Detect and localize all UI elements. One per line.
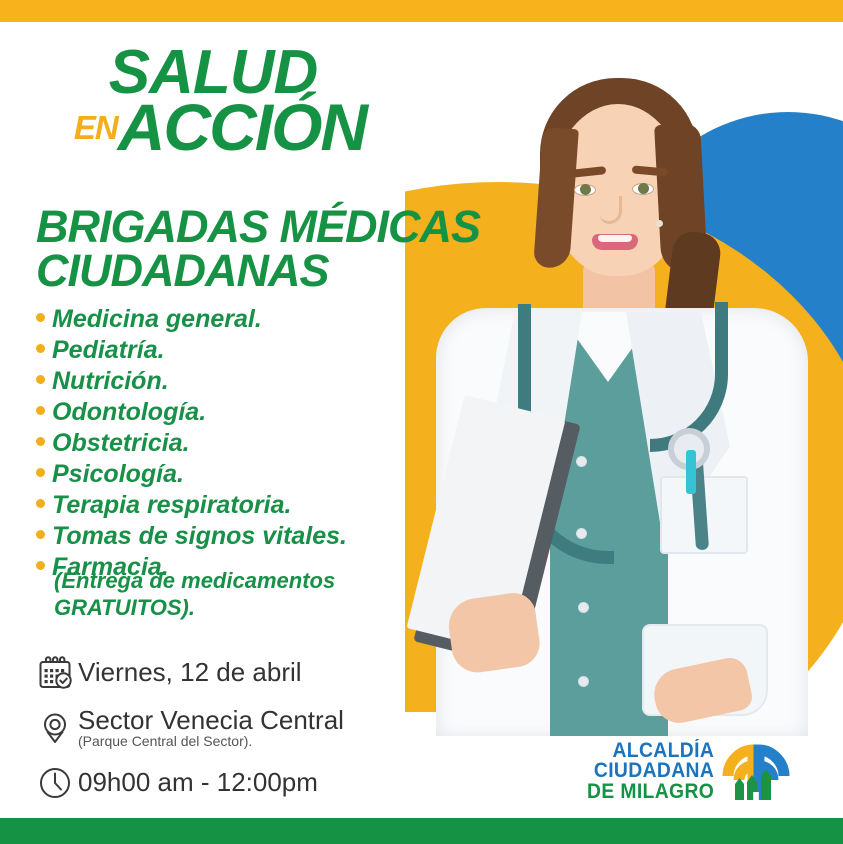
services-list: Medicina general. Pediatría. Nutrición. … [36, 306, 436, 585]
pharmacy-note: (Entrega de medicamentos GRATUITOS). [54, 568, 414, 622]
service-label: Nutrición. [52, 368, 169, 396]
bullet-dot-icon [36, 313, 45, 322]
hand-left [445, 590, 542, 676]
list-item: Odontología. [36, 399, 436, 427]
list-item: Terapia respiratoria. [36, 492, 436, 520]
event-date-row: Viernes, 12 de abril [32, 650, 432, 696]
note-prefix: (Entrega de medicamentos [54, 568, 335, 593]
bullet-dot-icon [36, 375, 45, 384]
event-location-detail: (Parque Central del Sector). [78, 734, 344, 750]
bullet-dot-icon [36, 468, 45, 477]
bullet-dot-icon [36, 499, 45, 508]
service-label: Psicología. [52, 461, 184, 489]
iris-left [580, 184, 591, 195]
service-label: Medicina general. [52, 306, 262, 334]
doctor-photo [400, 36, 843, 736]
coat-button [578, 676, 589, 687]
list-item: Medicina general. [36, 306, 436, 334]
bullet-dot-icon [36, 437, 45, 446]
location-pin-icon [32, 705, 78, 751]
event-details: Viernes, 12 de abril Sector Venecia Cent… [32, 650, 432, 815]
event-time: 09h00 am - 12:00pm [78, 768, 318, 797]
calendar-check-icon [32, 650, 78, 696]
service-label: Obstetricia. [52, 430, 190, 458]
event-time-row: 09h00 am - 12:00pm [32, 760, 432, 806]
list-item: Tomas de signos vitales. [36, 523, 436, 551]
headline-accion: ACCIÓN [118, 98, 366, 157]
service-label: Pediatría. [52, 337, 165, 365]
note-suffix: ). [182, 595, 195, 620]
service-label: Odontología. [52, 399, 206, 427]
teeth [598, 235, 632, 242]
list-item: Obstetricia. [36, 430, 436, 458]
iris-right [638, 183, 649, 194]
event-location-name: Sector Venecia Central [78, 705, 344, 735]
bullet-dot-icon [36, 406, 45, 415]
earring [656, 220, 663, 227]
poster-canvas: SALUD EN ACCIÓN BRIGADAS MÉDICAS CIUDADA… [0, 0, 843, 844]
event-date: Viernes, 12 de abril [78, 658, 302, 687]
top-yellow-bar [0, 0, 843, 22]
logo-line-1: ALCALDÍA [587, 741, 714, 761]
headline-en: EN [74, 111, 118, 144]
list-item: Psicología. [36, 461, 436, 489]
logo-mark-icon [720, 736, 792, 807]
bottom-green-bar [0, 818, 843, 844]
logo-wordmark: ALCALDÍA CIUDADANA DE MILAGRO [576, 741, 714, 801]
logo-line-3: DE MILAGRO [587, 782, 714, 802]
event-location-row: Sector Venecia Central (Parque Central d… [32, 705, 432, 751]
event-location: Sector Venecia Central (Parque Central d… [78, 706, 344, 750]
headline-block: SALUD EN ACCIÓN [0, 44, 452, 158]
note-emphasis: GRATUITOS [54, 595, 182, 620]
service-label: Tomas de signos vitales. [52, 523, 347, 551]
bullet-dot-icon [36, 344, 45, 353]
headline-second-line: EN ACCIÓN [0, 98, 452, 157]
list-item: Nutrición. [36, 368, 436, 396]
service-label: Terapia respiratoria. [52, 492, 291, 520]
coat-button [578, 602, 589, 613]
clock-icon [32, 760, 78, 806]
bullet-dot-icon [36, 530, 45, 539]
pen [686, 450, 696, 494]
bullet-dot-icon [36, 561, 45, 570]
list-item: Pediatría. [36, 337, 436, 365]
page-title: BRIGADAS MÉDICAS CIUDADANAS [36, 205, 506, 292]
municipality-logo: ALCALDÍA CIUDADANA DE MILAGRO [576, 736, 792, 807]
logo-line-2: CIUDADANA [587, 761, 714, 781]
